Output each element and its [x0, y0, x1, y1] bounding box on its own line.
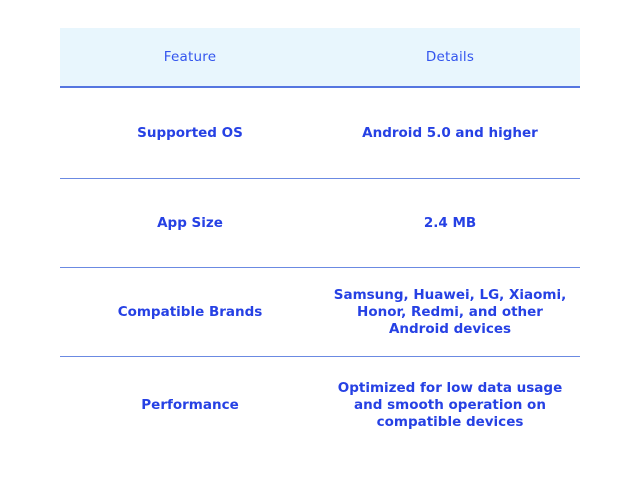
- column-header-details: Details: [320, 28, 580, 87]
- table-header: Feature Details: [60, 28, 580, 87]
- detail-line: and smooth operation on: [326, 397, 574, 414]
- table-row: Supported OS Android 5.0 and higher: [60, 87, 580, 179]
- spec-table-container: Feature Details Supported OS Android 5.0…: [60, 28, 580, 453]
- table-body: Supported OS Android 5.0 and higher App …: [60, 87, 580, 453]
- table-row: Compatible Brands Samsung, Huawei, LG, X…: [60, 268, 580, 357]
- table-row: Performance Optimized for low data usage…: [60, 357, 580, 454]
- table-header-row: Feature Details: [60, 28, 580, 87]
- cell-feature-compatible-brands: Compatible Brands: [60, 268, 320, 357]
- cell-details-compatible-brands: Samsung, Huawei, LG, Xiaomi, Honor, Redm…: [320, 268, 580, 357]
- cell-feature-supported-os: Supported OS: [60, 87, 320, 179]
- table-row: App Size 2.4 MB: [60, 179, 580, 268]
- detail-line: Optimized for low data usage: [326, 380, 574, 397]
- column-header-feature: Feature: [60, 28, 320, 87]
- detail-line: compatible devices: [326, 414, 574, 431]
- detail-line: Honor, Redmi, and other: [326, 304, 574, 321]
- cell-feature-performance: Performance: [60, 357, 320, 454]
- cell-details-app-size: 2.4 MB: [320, 179, 580, 268]
- cell-details-performance: Optimized for low data usage and smooth …: [320, 357, 580, 454]
- detail-line: Samsung, Huawei, LG, Xiaomi,: [326, 287, 574, 304]
- detail-line: 2.4 MB: [326, 215, 574, 232]
- detail-line: Android 5.0 and higher: [326, 125, 574, 142]
- cell-feature-app-size: App Size: [60, 179, 320, 268]
- detail-line: Android devices: [326, 321, 574, 338]
- specifications-table: Feature Details Supported OS Android 5.0…: [60, 28, 580, 453]
- cell-details-supported-os: Android 5.0 and higher: [320, 87, 580, 179]
